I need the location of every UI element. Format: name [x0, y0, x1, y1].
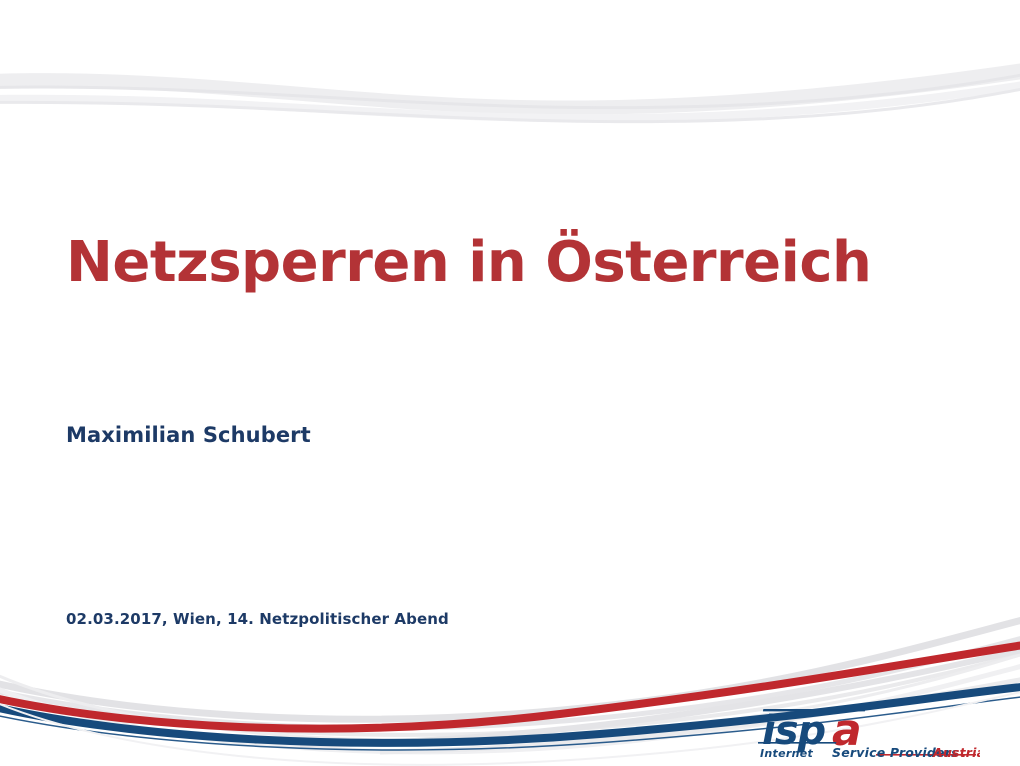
ispa-logo: isp a Internet Service Providers Austria [758, 706, 980, 760]
logo-tagline-internet: Internet [760, 747, 813, 760]
logo-tagline-rule-blue [758, 742, 836, 744]
top-wave-band-1 [0, 62, 1020, 115]
top-wave-group [0, 62, 1020, 123]
bottom-wave-decoration [0, 0, 1020, 766]
page-title: Netzsperren in Österreich [66, 232, 946, 295]
top-wave-decoration [0, 0, 1020, 766]
top-wave-line-2 [0, 86, 1020, 123]
title-slide: Netzsperren in Österreich Maximilian Sch… [0, 0, 1020, 766]
top-wave-band-2 [0, 80, 1020, 122]
top-wave-line-1 [0, 72, 1020, 109]
author-name: Maximilian Schubert [66, 423, 311, 447]
logo-tagline-austria: Austria [932, 745, 980, 760]
event-date-location: 02.03.2017, Wien, 14. Netzpolitischer Ab… [66, 610, 449, 628]
bottom-wave-gray-1 [0, 618, 1020, 719]
